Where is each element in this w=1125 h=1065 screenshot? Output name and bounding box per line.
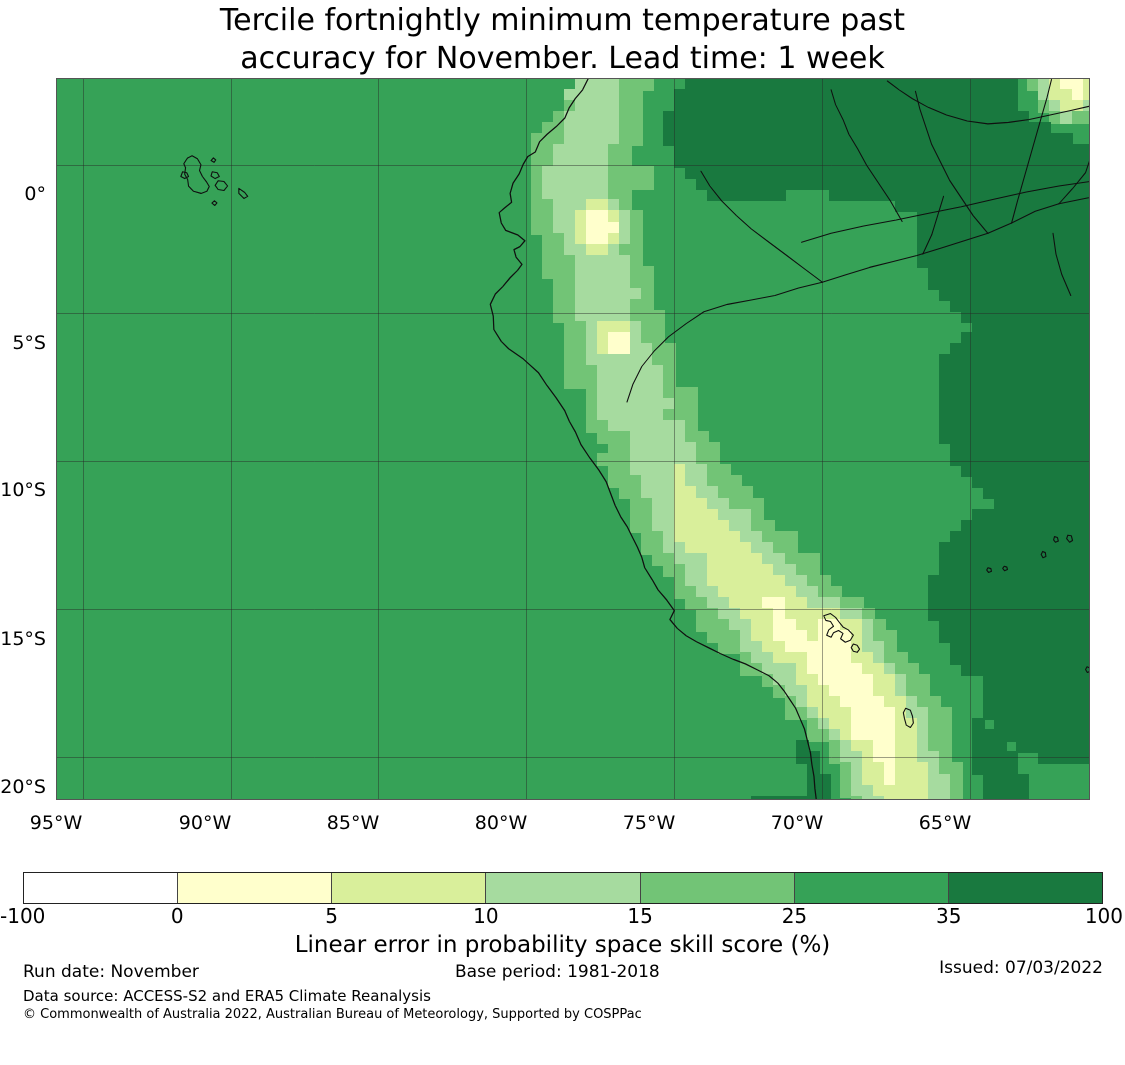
run-date-text: Run date: November [23,962,199,982]
colorbar-tick-label: 25 [782,904,807,928]
colorbar-tick-label: 100 [1085,904,1123,928]
chart-title-line2: accuracy for November. Lead time: 1 week [0,40,1125,78]
data-source-text: Data source: ACCESS-S2 and ERA5 Climate … [23,987,431,1005]
latitude-tick-label: 0° [24,183,46,205]
colorbar-tick-label: 35 [936,904,961,928]
longitude-tick-label: 65°W [919,812,971,834]
skill-score-heatmap-canvas [56,78,1090,800]
base-period-text: Base period: 1981-2018 [455,962,660,982]
chart-title-line1: Tercile fortnightly minimum temperature … [0,2,1125,40]
longitude-tick-label: 75°W [623,812,675,834]
colorbar-segment [794,873,948,903]
longitude-tick-label: 90°W [179,812,231,834]
issued-date-text: Issued: 07/03/2022 [939,958,1103,978]
latitude-tick-label: 20°S [0,776,46,798]
map-plot-area [56,78,1090,800]
longitude-tick-label: 85°W [327,812,379,834]
colorbar-tick-label: -100 [0,904,45,928]
colorbar-tick-label: 15 [627,904,652,928]
colorbar-segment [24,873,177,903]
colorbar-label: Linear error in probability space skill … [0,932,1125,958]
chart-title: Tercile fortnightly minimum temperature … [0,2,1125,78]
longitude-tick-label: 95°W [30,812,82,834]
colorbar-tick-label: 5 [325,904,338,928]
latitude-tick-label: 15°S [0,628,46,650]
longitude-tick-label: 70°W [771,812,823,834]
longitude-tick-label: 80°W [475,812,527,834]
latitude-tick-label: 10°S [0,479,46,501]
colorbar-segment [331,873,485,903]
colorbar-segment [177,873,331,903]
copyright-text: © Commonwealth of Australia 2022, Austra… [23,1007,642,1022]
colorbar-tick-label: 10 [473,904,498,928]
colorbar-segment [485,873,639,903]
colorbar-segment [948,873,1102,903]
colorbar-segment [640,873,794,903]
colorbar-tick-label: 0 [171,904,184,928]
colorbar [23,872,1103,904]
latitude-tick-label: 5°S [12,332,46,354]
